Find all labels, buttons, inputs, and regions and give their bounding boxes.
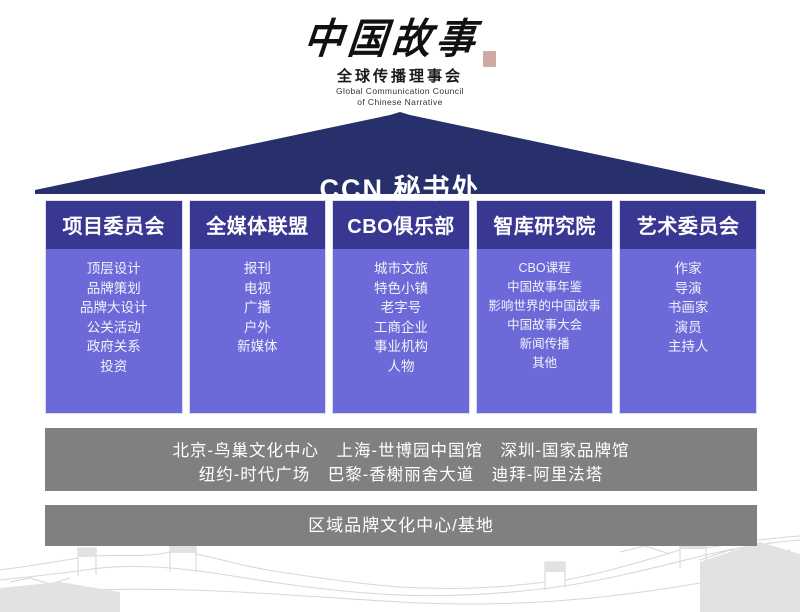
column-header: 艺术委员会	[620, 201, 756, 249]
list-item: 中国故事大会	[481, 316, 609, 335]
column-think-tank-institute[interactable]: 智库研究院 CBO课程 中国故事年鉴 影响世界的中国故事 中国故事大会 新闻传播…	[476, 200, 614, 414]
list-item: 广播	[194, 298, 322, 318]
list-item: CBO课程	[481, 259, 609, 278]
list-item: 其他	[481, 354, 609, 373]
list-item: 政府关系	[50, 337, 178, 357]
region-bar: 区域品牌文化中心/基地	[45, 505, 757, 546]
column-body: 顶层设计 品牌策划 品牌大设计 公关活动 政府关系 投资	[46, 249, 182, 413]
red-seal-icon	[483, 51, 496, 67]
region-line-1: 区域品牌文化中心/基地	[45, 514, 757, 538]
column-all-media-alliance[interactable]: 全媒体联盟 报刊 电视 广播 户外 新媒体	[189, 200, 327, 414]
list-item: 书画家	[624, 298, 752, 318]
column-cbo-club[interactable]: CBO俱乐部 城市文旅 特色小镇 老字号 工商企业 事业机构 人物	[332, 200, 470, 414]
list-item: 老字号	[337, 298, 465, 318]
column-art-committee[interactable]: 艺术委员会 作家 导演 书画家 演员 主持人	[619, 200, 757, 414]
list-item: 品牌策划	[50, 279, 178, 299]
list-item: 中国故事年鉴	[481, 278, 609, 297]
roof-shape	[35, 112, 765, 194]
column-body: CBO课程 中国故事年鉴 影响世界的中国故事 中国故事大会 新闻传播 其他	[477, 249, 613, 413]
list-item: 新闻传播	[481, 335, 609, 354]
list-item: 电视	[194, 279, 322, 299]
logo-english-line-1: Global Communication Council	[0, 86, 800, 97]
organization-logo: 中国故事 全球传播理事会 Global Communication Counci…	[0, 14, 800, 108]
column-body: 作家 导演 书画家 演员 主持人	[620, 249, 756, 413]
list-item: 新媒体	[194, 337, 322, 357]
venues-bar: 北京-鸟巢文化中心 上海-世博园中国馆 深圳-国家品牌馆 纽约-时代广场 巴黎-…	[45, 428, 757, 491]
logo-english-line-2: of Chinese Narrative	[0, 97, 800, 108]
logo-calligraphy-text: 中国故事	[302, 13, 484, 66]
list-item: 作家	[624, 259, 752, 279]
column-header: 全媒体联盟	[190, 201, 326, 249]
list-item: 导演	[624, 279, 752, 299]
column-header: CBO俱乐部	[333, 201, 469, 249]
list-item: 人物	[337, 357, 465, 377]
column-body: 城市文旅 特色小镇 老字号 工商企业 事业机构 人物	[333, 249, 469, 413]
list-item: 品牌大设计	[50, 298, 178, 318]
column-header: 智库研究院	[477, 201, 613, 249]
column-body: 报刊 电视 广播 户外 新媒体	[190, 249, 326, 413]
column-header: 项目委员会	[46, 201, 182, 249]
list-item: 户外	[194, 318, 322, 338]
logo-calligraphy: 中国故事	[304, 14, 495, 64]
list-item: 公关活动	[50, 318, 178, 338]
logo-chinese-subtitle: 全球传播理事会	[0, 65, 800, 86]
list-item: 特色小镇	[337, 279, 465, 299]
column-project-committee[interactable]: 项目委员会 顶层设计 品牌策划 品牌大设计 公关活动 政府关系 投资	[45, 200, 183, 414]
list-item: 投资	[50, 357, 178, 377]
list-item: 主持人	[624, 337, 752, 357]
list-item: 演员	[624, 318, 752, 338]
list-item: 城市文旅	[337, 259, 465, 279]
venues-line-2: 纽约-时代广场 巴黎-香榭丽舍大道 迪拜-阿里法塔	[45, 463, 757, 487]
list-item: 顶层设计	[50, 259, 178, 279]
list-item: 报刊	[194, 259, 322, 279]
list-item: 事业机构	[337, 337, 465, 357]
roof-polygon-icon	[35, 112, 765, 194]
pillar-columns: 项目委员会 顶层设计 品牌策划 品牌大设计 公关活动 政府关系 投资 全媒体联盟…	[45, 200, 757, 414]
list-item: 工商企业	[337, 318, 465, 338]
venues-line-1: 北京-鸟巢文化中心 上海-世博园中国馆 深圳-国家品牌馆	[45, 439, 757, 463]
list-item: 影响世界的中国故事	[481, 297, 609, 316]
